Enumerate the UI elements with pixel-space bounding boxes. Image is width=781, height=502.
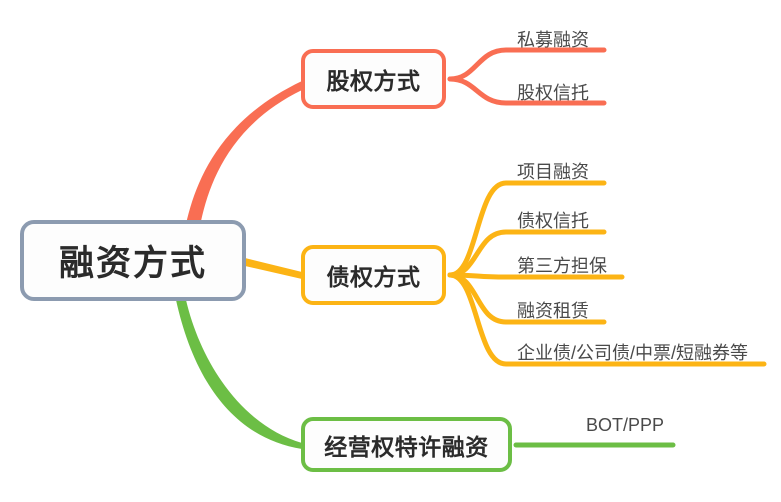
leaf-equity-2[interactable]: 股权信托	[517, 79, 589, 105]
leaf-debt-4[interactable]: 融资租赁	[517, 297, 589, 323]
node-root[interactable]: 融资方式	[20, 220, 246, 301]
connector-root-to-equity	[186, 81, 302, 226]
leaf-franchise-1[interactable]: BOT/PPP	[586, 415, 664, 436]
leaf-debt-5[interactable]: 企业债/公司债/中票/短融券等	[517, 339, 748, 365]
leaf-equity-1[interactable]: 私募融资	[517, 26, 589, 52]
leaf-debt-2[interactable]: 债权信托	[517, 207, 589, 233]
connector-root-to-franchise	[176, 300, 302, 449]
node-equity-label: 股权方式	[327, 62, 421, 96]
node-root-label: 融资方式	[59, 235, 207, 286]
connector-root-to-debt	[245, 258, 302, 279]
leaf-debt-3[interactable]: 第三方担保	[517, 252, 607, 278]
node-franchise-label: 经营权特许融资	[324, 428, 489, 462]
node-equity[interactable]: 股权方式	[301, 49, 446, 109]
node-franchise[interactable]: 经营权特许融资	[301, 417, 512, 472]
debt-branch-links	[450, 183, 764, 364]
node-debt[interactable]: 债权方式	[301, 245, 446, 305]
node-debt-label: 债权方式	[327, 258, 421, 292]
leaf-debt-1[interactable]: 项目融资	[517, 158, 589, 184]
mindmap-canvas: 融资方式 股权方式 债权方式 经营权特许融资 私募融资 股权信托 项目融资 债权…	[0, 0, 781, 502]
